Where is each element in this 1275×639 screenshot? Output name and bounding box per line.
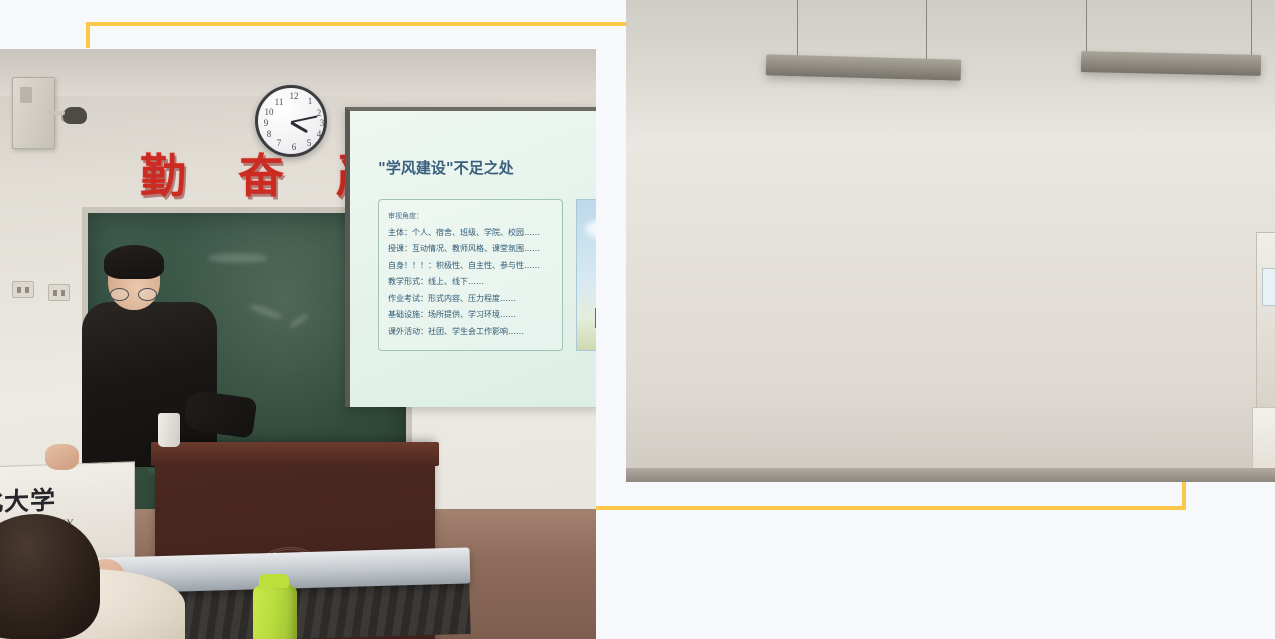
wall-socket bbox=[12, 281, 34, 298]
cabinet bbox=[1256, 232, 1275, 412]
wall-clock: 12 1 2 3 4 5 6 7 8 9 10 11 bbox=[255, 85, 327, 157]
cup bbox=[158, 413, 180, 447]
slide-text-panel: 审视角度： 主体：个人、宿舍、班级、学院、校园…… 授课：互动情况、教师风格、课… bbox=[378, 199, 563, 351]
clock-numeral: 3 bbox=[316, 118, 328, 128]
slide-title: "学风建设"不足之处 bbox=[378, 157, 514, 178]
clock-numeral: 8 bbox=[263, 129, 275, 139]
frame-line-bottom bbox=[596, 506, 1186, 510]
lamp-wire bbox=[1251, 0, 1252, 60]
clock-numeral: 7 bbox=[273, 138, 285, 148]
glasses-icon bbox=[110, 288, 157, 301]
clock-numeral: 1 bbox=[304, 96, 316, 106]
floor-strip bbox=[626, 468, 1275, 482]
clock-numeral: 10 bbox=[263, 107, 275, 117]
clock-numeral: 6 bbox=[288, 142, 300, 152]
presenter-hand bbox=[45, 444, 79, 470]
slide-bullet: 授课：互动情况、教师风格、课堂氛围…… bbox=[388, 241, 553, 258]
clock-numeral: 11 bbox=[273, 97, 285, 107]
frame-line-right bbox=[1182, 482, 1186, 510]
slide-bullet: 自身！！！：积极性、自主性、参与性…… bbox=[388, 258, 553, 275]
slide-canvas: 12 1 2 3 4 5 6 7 8 9 10 11 勤 奋 严 谨 bbox=[0, 0, 1275, 639]
presenter-hair bbox=[104, 245, 164, 279]
ceiling-light-fixture bbox=[1081, 51, 1261, 76]
slide-bullet: 作业考试：形式内容、压力程度…… bbox=[388, 291, 553, 308]
wall-socket bbox=[48, 284, 70, 301]
photo-left[interactable]: 12 1 2 3 4 5 6 7 8 9 10 11 勤 奋 严 谨 bbox=[0, 49, 596, 639]
clock-numeral: 5 bbox=[303, 138, 315, 148]
cabinet-panel bbox=[1262, 268, 1275, 306]
slide-photo-panel bbox=[576, 199, 596, 351]
projector-screen: "学风建设"不足之处 审视角度： 主体：个人、宿舍、班级、学院、校园…… 授课：… bbox=[345, 107, 596, 407]
slide-bullet: 基础设施：场所提供、学习环境…… bbox=[388, 307, 553, 324]
slide-bullet: 主体：个人、宿舍、班级、学院、校园…… bbox=[388, 225, 553, 242]
clock-hour-hand bbox=[290, 121, 308, 133]
lamp-wire bbox=[797, 0, 798, 58]
clock-numeral: 9 bbox=[260, 118, 272, 128]
water-bottle bbox=[253, 585, 297, 639]
lamp-wire bbox=[1086, 0, 1087, 56]
university-name-cn: 北大学 bbox=[0, 479, 108, 520]
lower-wall bbox=[626, 150, 1275, 482]
photo-right[interactable]: 勤 奋 严 谨 "学风建设"不足之处 审视角度： 主体：个人、宿舍、班级、学院、… bbox=[626, 0, 1275, 482]
clock-minute-hand bbox=[291, 115, 318, 123]
frame-line-top bbox=[86, 22, 626, 26]
slogan-char: 奋 bbox=[238, 153, 288, 199]
frame-line-left bbox=[86, 22, 90, 48]
slide-bullet: 课外活动：社团、学生会工作影响…… bbox=[388, 324, 553, 341]
security-camera-icon bbox=[63, 107, 87, 124]
slide-bullet: 教学形式：线上、线下…… bbox=[388, 274, 553, 291]
clock-numeral: 12 bbox=[288, 91, 300, 101]
slide-section-label: 审视角度： bbox=[388, 208, 553, 225]
slogan-char: 勤 bbox=[140, 153, 190, 199]
